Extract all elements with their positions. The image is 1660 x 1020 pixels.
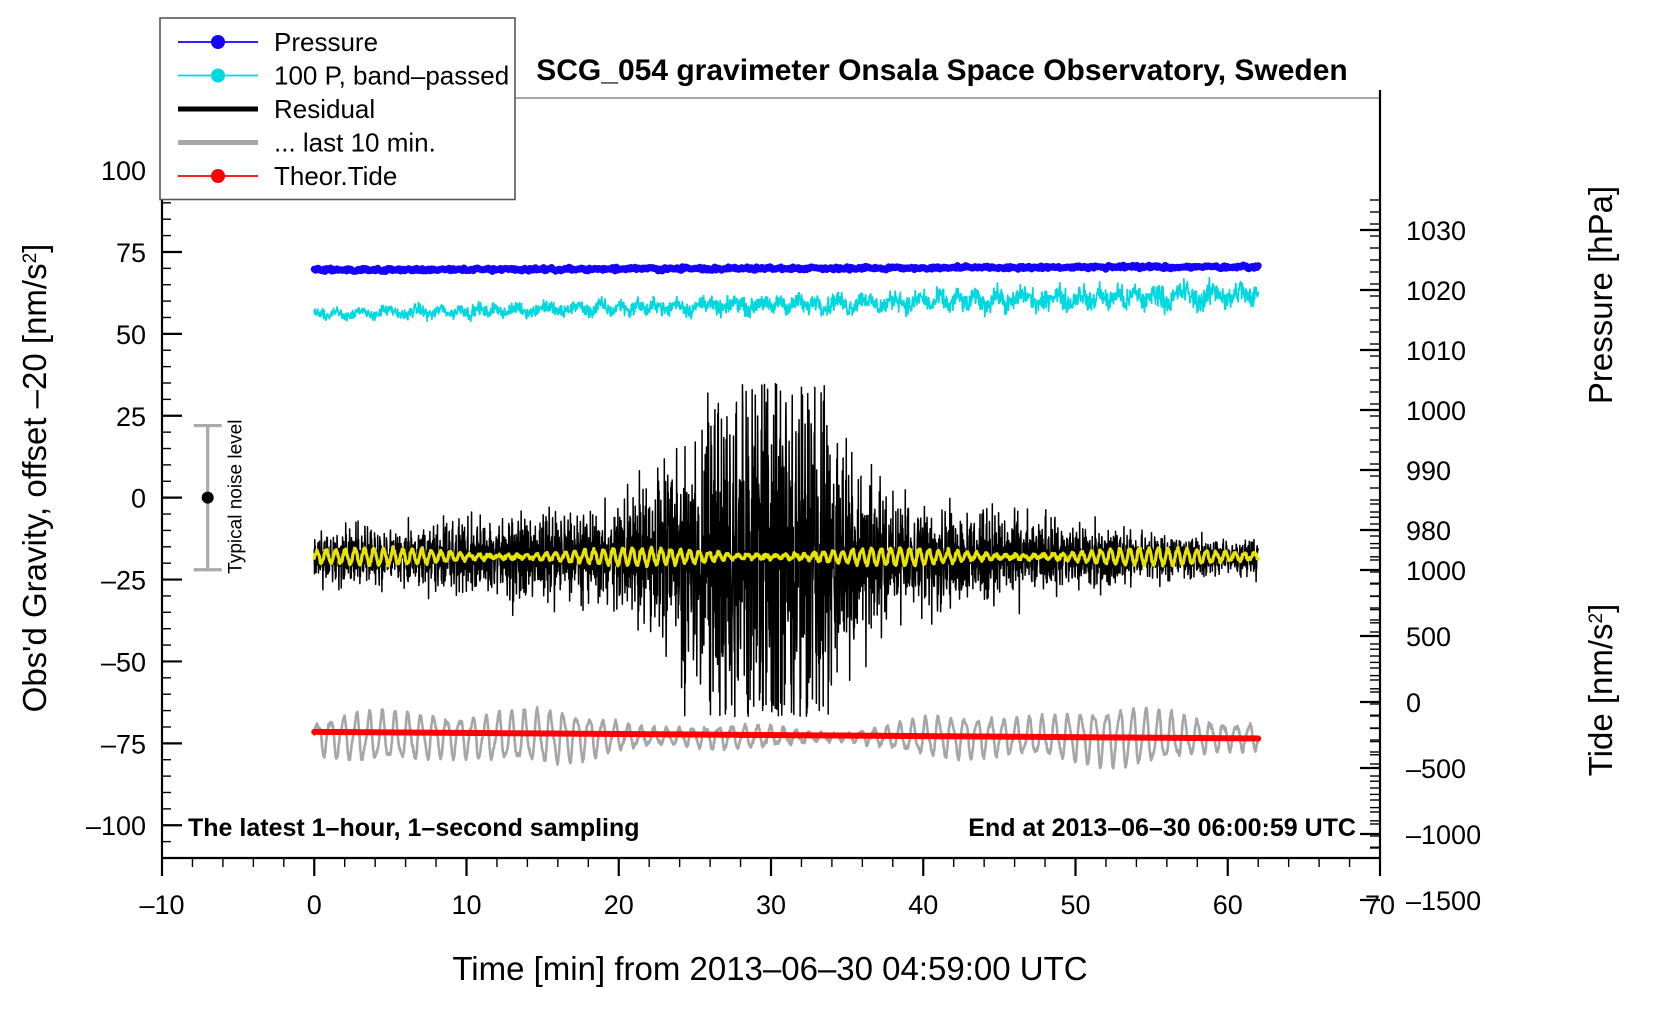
y-left-tick-label: 75 (116, 238, 146, 268)
y-left-title-main: Obs'd Gravity, offset –20 [nm/s (16, 263, 53, 712)
x-tick-label: –10 (139, 890, 184, 920)
legend-item-label: ... last 10 min. (274, 128, 436, 158)
y-left-title-sup: 2 (20, 253, 41, 264)
y-right-top-tick-label: 990 (1406, 456, 1451, 486)
y-left-tick-label: 50 (116, 320, 146, 350)
tide-title-sup: 2 (1586, 613, 1607, 624)
y-left-axis-title: Obs'd Gravity, offset –20 [nm/s2] (16, 244, 53, 713)
legend[interactable]: Pressure100 P, band–passedResidual... la… (160, 18, 515, 200)
y-right-top-tick-label: 1000 (1406, 396, 1466, 426)
y-right-top-tick-label: 980 (1406, 516, 1451, 546)
x-tick-label: 0 (307, 890, 322, 920)
svg-text:Tide [nm/s2]: Tide [nm/s2] (1582, 604, 1619, 777)
typical-noise-level-label: Typical noise level (226, 420, 247, 574)
annotation-bottom-left: The latest 1–hour, 1–second sampling (188, 814, 640, 842)
chart-canvas: Typical noise level –10010203040506070–1… (0, 0, 1660, 1020)
x-axis-title: Time [min] from 2013–06–30 04:59:00 UTC (452, 950, 1087, 987)
y-left-title-tail: ] (16, 244, 53, 253)
y-right-top-tick-label: 1020 (1406, 276, 1466, 306)
y-left-tick-label: –50 (101, 647, 146, 677)
x-tick-label: 50 (1060, 890, 1090, 920)
y-right-top-tick-label: 1010 (1406, 336, 1466, 366)
tide-title-tail: ] (1582, 604, 1619, 613)
y-left-tick-label: –75 (101, 729, 146, 759)
y-right-bottom-tick-label: –1500 (1406, 886, 1481, 916)
y-left-tick-label: –100 (86, 811, 146, 841)
x-tick-label: 70 (1365, 890, 1395, 920)
legend-swatch-marker (211, 35, 225, 49)
x-tick-label: 20 (604, 890, 634, 920)
legend-item-label: Pressure (274, 27, 378, 57)
y-right-bottom-tick-label: –500 (1406, 754, 1466, 784)
legend-item-label: Theor.Tide (274, 161, 397, 191)
y-right-bottom-tick-label: 0 (1406, 688, 1421, 718)
y-left-tick-label: 100 (101, 156, 146, 186)
legend-item-label: Residual (274, 94, 375, 124)
y-right-top-tick-label: 1030 (1406, 216, 1466, 246)
page-title: SCG_054 gravimeter Onsala Space Observat… (536, 54, 1348, 87)
tide-title-main: Tide [nm/s (1582, 623, 1619, 776)
legend-swatch-marker (211, 169, 225, 183)
annotation-bottom-right: End at 2013–06–30 06:00:59 UTC (968, 814, 1356, 842)
svg-text:Obs'd Gravity, offset –20 [nm/: Obs'd Gravity, offset –20 [nm/s2] (16, 244, 53, 713)
x-tick-label: 10 (451, 890, 481, 920)
y-right-bottom-tick-label: –1000 (1406, 820, 1481, 850)
legend-swatch-marker (211, 69, 225, 83)
y-right-bottom-tick-label: 500 (1406, 622, 1451, 652)
y-right-top-title: Pressure [hPa] (1582, 186, 1619, 404)
y-left-tick-label: 0 (131, 484, 146, 514)
x-tick-label: 60 (1213, 890, 1243, 920)
noise-bar-center-dot (202, 492, 214, 504)
legend-item-label: 100 P, band–passed (274, 61, 509, 91)
svg-text:Pressure [hPa]: Pressure [hPa] (1582, 186, 1619, 404)
y-right-bottom-tick-label: 1000 (1406, 556, 1466, 586)
x-tick-label: 30 (756, 890, 786, 920)
y-right-bottom-title: Tide [nm/s2] (1582, 604, 1619, 777)
y-left-tick-label: 25 (116, 402, 146, 432)
x-tick-label: 40 (908, 890, 938, 920)
gravimeter-chart: Typical noise level –10010203040506070–1… (0, 0, 1660, 1020)
y-left-tick-label: –25 (101, 566, 146, 596)
